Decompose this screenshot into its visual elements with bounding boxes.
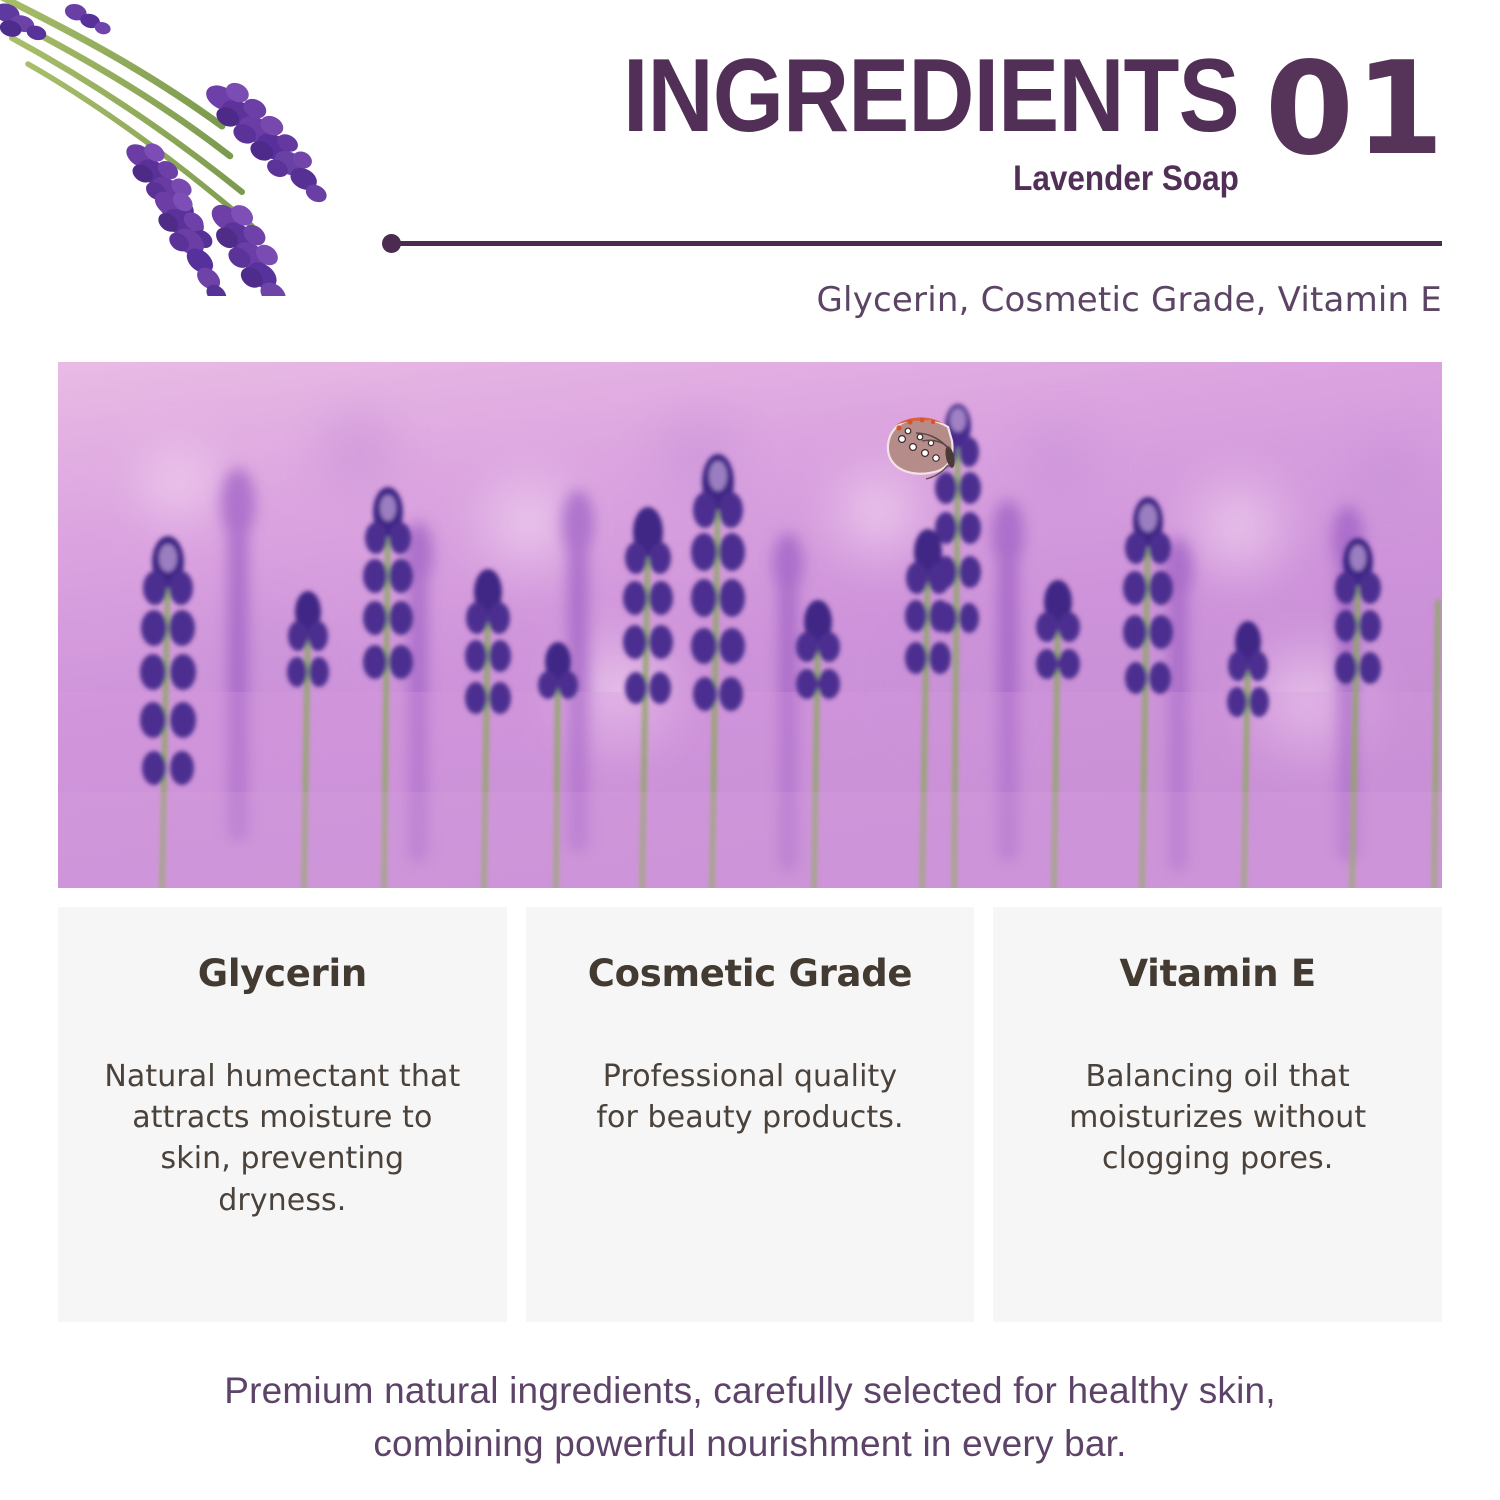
infographic-page: INGREDIENTS Lavender Soap 01 Glycerin, C…	[0, 0, 1500, 1500]
header: INGREDIENTS Lavender Soap 01	[600, 46, 1445, 211]
card-title: Vitamin E	[1019, 953, 1416, 996]
ingredient-card-cosmetic-grade[interactable]: Cosmetic Grade Professional quality for …	[526, 907, 975, 1322]
title-block: INGREDIENTS Lavender Soap	[539, 46, 1239, 198]
divider-line	[396, 241, 1442, 246]
footer-caption: Premium natural ingredients, carefully s…	[0, 1365, 1500, 1470]
lavender-sprig-decoration	[0, 0, 420, 296]
page-title: INGREDIENTS	[623, 46, 1239, 148]
card-description: Balancing oil that moisturizes without c…	[1048, 1056, 1388, 1180]
lavender-field-illustration	[58, 362, 1442, 888]
page-subtitle: Lavender Soap	[1013, 160, 1239, 199]
ingredient-card-vitamin-e[interactable]: Vitamin E Balancing oil that moisturizes…	[993, 907, 1442, 1322]
card-title: Glycerin	[84, 953, 481, 996]
card-description: Professional quality for beauty products…	[585, 1056, 915, 1139]
card-title: Cosmetic Grade	[552, 953, 949, 996]
card-description: Natural humectant that attracts moisture…	[92, 1056, 472, 1222]
hero-image	[58, 362, 1442, 888]
title-row: INGREDIENTS Lavender Soap 01	[539, 46, 1445, 198]
divider	[382, 234, 1442, 254]
step-number-badge: 01	[1265, 46, 1445, 174]
ingredient-cards: Glycerin Natural humectant that attracts…	[58, 907, 1442, 1322]
ingredient-list: Glycerin, Cosmetic Grade, Vitamin E	[817, 280, 1443, 321]
ingredient-card-glycerin[interactable]: Glycerin Natural humectant that attracts…	[58, 907, 507, 1322]
footer-caption-line-1: Premium natural ingredients, carefully s…	[110, 1365, 1390, 1418]
footer-caption-line-2: combining powerful nourishment in every …	[110, 1418, 1390, 1471]
